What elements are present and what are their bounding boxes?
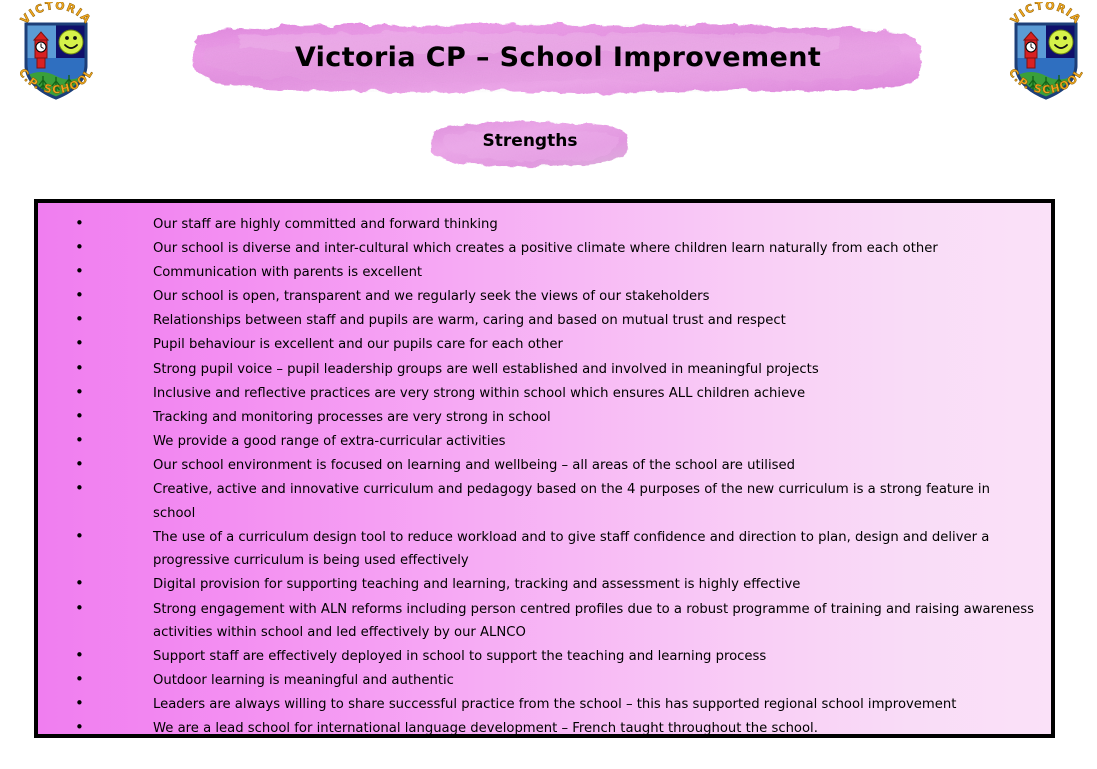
list-item: Tracking and monitoring processes are ve… <box>70 406 1035 430</box>
section-subtitle: Strengths <box>424 131 636 151</box>
list-item: We are a lead school for international l… <box>70 717 1035 738</box>
list-item: Communication with parents is excellent <box>70 261 1035 285</box>
smiley-face-icon <box>1049 30 1073 54</box>
list-item: The use of a curriculum design tool to r… <box>70 526 1035 573</box>
list-item: We provide a good range of extra-curricu… <box>70 430 1035 454</box>
list-item: Pupil behaviour is excellent and our pup… <box>70 333 1035 357</box>
list-item: Creative, active and innovative curricul… <box>70 478 1035 525</box>
list-item: Strong pupil voice – pupil leadership gr… <box>70 358 1035 382</box>
page-title: Victoria CP – School Improvement <box>178 42 938 73</box>
strengths-panel: Our staff are highly committed and forwa… <box>34 199 1055 738</box>
strengths-bullet-list: Our staff are highly committed and forwa… <box>38 203 1051 738</box>
list-item: Our school is diverse and inter-cultural… <box>70 237 1035 261</box>
list-item: Our school environment is focused on lea… <box>70 454 1035 478</box>
list-item: Outdoor learning is meaningful and authe… <box>70 669 1035 693</box>
school-crest-right: VICTORIA C.P. SCHOOL <box>1000 2 1092 106</box>
list-item: Inclusive and reflective practices are v… <box>70 382 1035 406</box>
list-item: Strong engagement with ALN reforms inclu… <box>70 598 1035 645</box>
smiley-face-icon <box>59 30 83 54</box>
list-item: Our staff are highly committed and forwa… <box>70 213 1035 237</box>
list-item: Our school is open, transparent and we r… <box>70 285 1035 309</box>
list-item: Leaders are always willing to share succ… <box>70 693 1035 717</box>
list-item: Digital provision for supporting teachin… <box>70 573 1035 597</box>
list-item: Support staff are effectively deployed i… <box>70 645 1035 669</box>
list-item: Relationships between staff and pupils a… <box>70 309 1035 333</box>
school-crest-left: VICTORIA C.P. SCHOOL <box>10 2 102 106</box>
